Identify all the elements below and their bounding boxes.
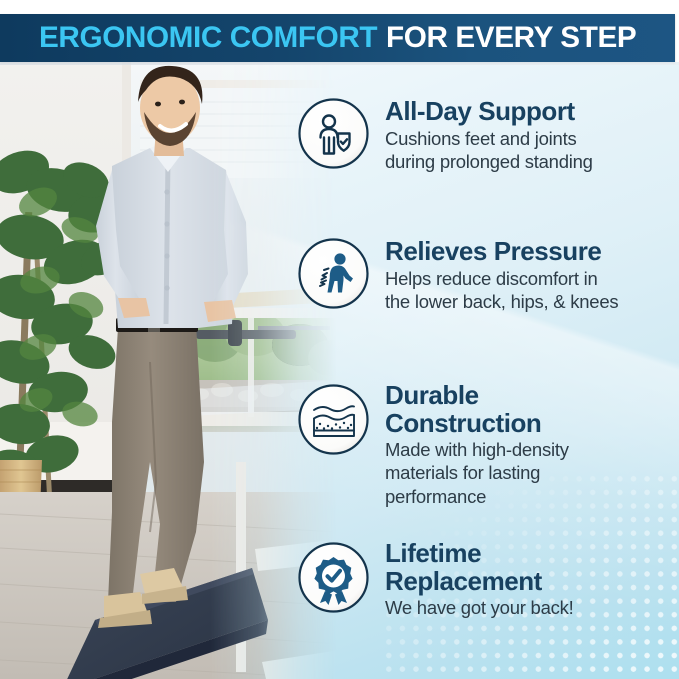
award-badge-check-icon <box>296 540 371 615</box>
feature-text: Relieves Pressure Helps reduce discomfor… <box>385 236 618 313</box>
feature-list: All-Day Support Cushions feet and joints… <box>296 62 679 679</box>
top-white-margin <box>0 0 679 14</box>
header-title-highlight: ERGONOMIC COMFORT <box>39 21 377 54</box>
feature-item-lifetime-replacement: Lifetime Replacement We have got your ba… <box>296 540 574 619</box>
header-banner: ERGONOMIC COMFORTFOR EVERY STEP <box>0 14 675 62</box>
person-shield-icon <box>296 96 371 171</box>
feature-item-relieves-pressure: Relieves Pressure Helps reduce discomfor… <box>296 236 618 313</box>
feature-item-all-day-support: All-Day Support Cushions feet and joints… <box>296 96 593 173</box>
feature-text: All-Day Support Cushions feet and joints… <box>385 96 593 173</box>
feature-heading: Durable Construction <box>385 382 569 437</box>
feature-body: Made with high-density materials for las… <box>385 438 569 508</box>
feature-body: Cushions feet and joints during prolonge… <box>385 127 593 174</box>
feature-text: Durable Construction Made with high-dens… <box>385 382 569 508</box>
feature-heading: Lifetime Replacement <box>385 540 574 595</box>
header-title-rest: FOR EVERY STEP <box>386 21 636 54</box>
feature-item-durable-construction: Durable Construction Made with high-dens… <box>296 382 569 508</box>
feature-text: Lifetime Replacement We have got your ba… <box>385 540 574 619</box>
product-lifestyle-photo <box>0 62 340 679</box>
infographic-page: All-Day Support Cushions feet and joints… <box>0 0 679 679</box>
foam-layers-icon <box>296 382 371 457</box>
feature-heading: All-Day Support <box>385 98 593 126</box>
header-title: ERGONOMIC COMFORTFOR EVERY STEP <box>39 23 636 53</box>
banner-bottom-edge <box>0 62 679 65</box>
feature-heading: Relieves Pressure <box>385 238 618 266</box>
back-pain-person-icon <box>296 236 371 311</box>
feature-body: We have got your back! <box>385 596 574 619</box>
feature-body: Helps reduce discomfort in the lower bac… <box>385 267 618 314</box>
